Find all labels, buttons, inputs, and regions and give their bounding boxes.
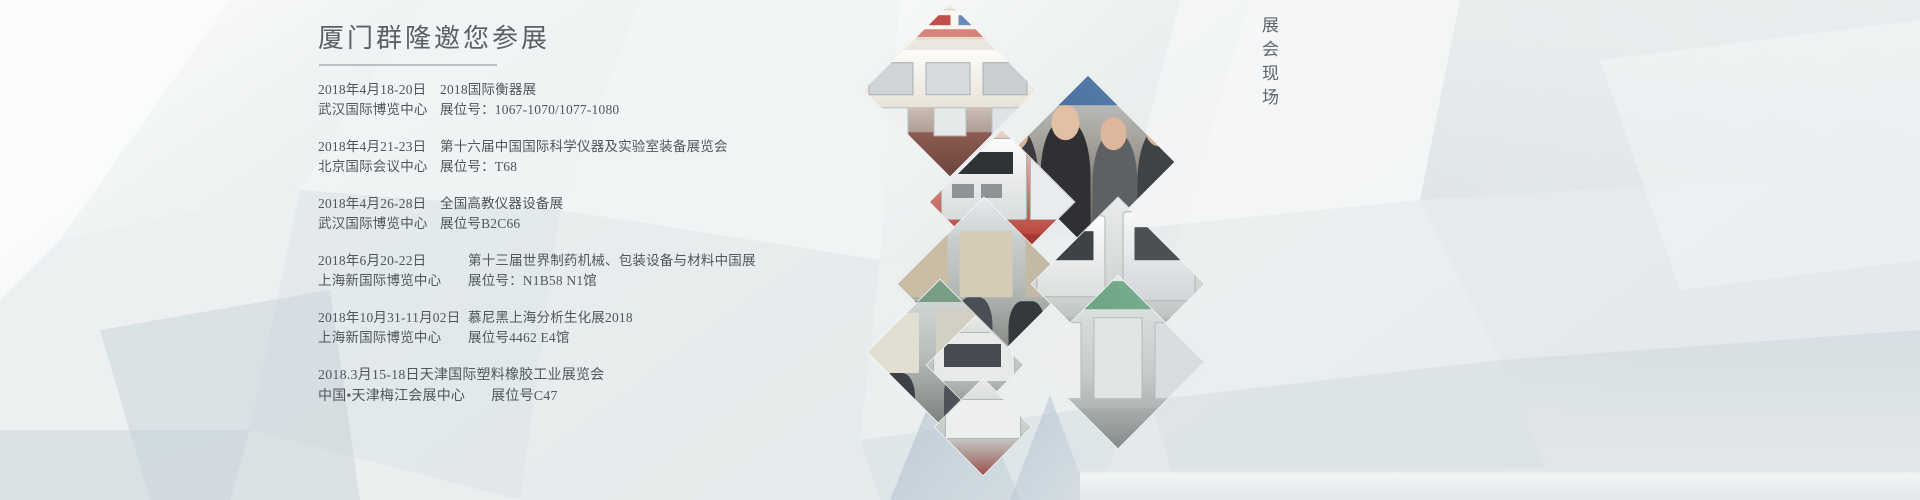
exhibition-booth: 展位号C47 <box>491 386 558 407</box>
exhibition-banner: 厦门群隆邀您参展 2018年4月18-20日 2018国际衡器展 武汉国际博览中… <box>0 0 1920 500</box>
exhibition-date: 2018年4月21-23日 <box>318 137 440 157</box>
exhibition-item: 2018.3月15-18日天津国际塑料橡胶工业展览会 中国•天津梅江会展中心 展… <box>318 365 938 407</box>
exhibition-item: 2018年10月31-11月02日 慕尼黑上海分析生化展2018 上海新国际博览… <box>318 308 938 348</box>
exhibition-name: 第十六届中国国际科学仪器及实验室装备展览会 <box>440 137 728 157</box>
exhibition-venue: 武汉国际博览中心 <box>318 100 440 120</box>
exhibition-booth: 展位号4462 E4馆 <box>468 328 570 348</box>
exhibition-item: 2018年4月18-20日 2018国际衡器展 武汉国际博览中心 展位号：106… <box>318 80 938 120</box>
exhibition-name: 2018国际衡器展 <box>440 80 536 100</box>
vertical-caption: 展会现场 <box>1256 16 1281 112</box>
exhibition-item: 2018年6月20-22日 第十三届世界制药机械、包装设备与材料中国展 上海新国… <box>318 251 938 291</box>
exhibition-date: 2018年4月18-20日 <box>318 80 440 100</box>
exhibition-date: 2018.3月15-18日天津国际塑料橡胶工业展览会 <box>318 365 604 386</box>
exhibition-venue: 武汉国际博览中心 <box>318 214 440 234</box>
exhibition-booth: 展位号：1067-1070/1077-1080 <box>440 100 619 120</box>
page-title: 厦门群隆邀您参展 <box>318 22 938 56</box>
exhibition-name: 慕尼黑上海分析生化展2018 <box>468 308 633 328</box>
exhibition-date: 2018年6月20-22日 <box>318 251 468 271</box>
exhibition-booth: 展位号：N1B58 N1馆 <box>468 271 597 291</box>
exhibition-text-block: 厦门群隆邀您参展 2018年4月18-20日 2018国际衡器展 武汉国际博览中… <box>318 22 938 424</box>
exhibition-date: 2018年10月31-11月02日 <box>318 308 468 328</box>
exhibition-booth: 展位号：T68 <box>440 157 517 177</box>
exhibition-venue: 北京国际会议中心 <box>318 157 440 177</box>
exhibition-name: 第十三届世界制药机械、包装设备与材料中国展 <box>468 251 756 271</box>
exhibition-booth: 展位号B2C66 <box>440 214 520 234</box>
exhibition-venue: 上海新国际博览中心 <box>318 271 468 291</box>
exhibition-venue: 中国•天津梅江会展中心 <box>318 386 465 407</box>
exhibition-item: 2018年4月26-28日 全国高教仪器设备展 武汉国际博览中心 展位号B2C6… <box>318 194 938 234</box>
title-underline <box>319 64 497 66</box>
exhibition-venue: 上海新国际博览中心 <box>318 328 468 348</box>
exhibition-date: 2018年4月26-28日 <box>318 194 440 214</box>
exhibition-item: 2018年4月21-23日 第十六届中国国际科学仪器及实验室装备展览会 北京国际… <box>318 137 938 177</box>
exhibition-name: 全国高教仪器设备展 <box>440 194 563 214</box>
